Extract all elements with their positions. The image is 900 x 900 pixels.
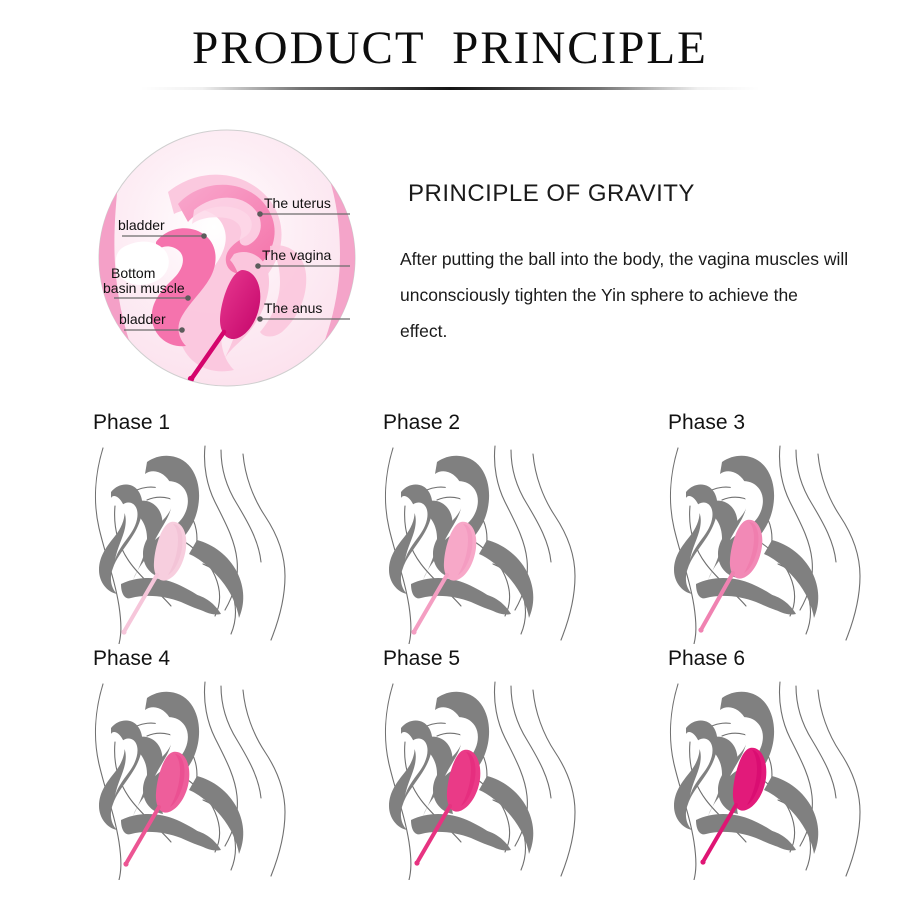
gravity-heading: PRINCIPLE OF GRAVITY xyxy=(408,180,870,208)
label-bottom-basin-muscle-line2: basin muscle xyxy=(103,280,185,296)
phase-cell-2: Phase 2 xyxy=(375,412,655,650)
label-bladder-lower: bladder xyxy=(119,311,166,327)
label-bladder-upper: bladder xyxy=(118,217,165,233)
phase-illustration-6 xyxy=(660,680,895,880)
gravity-text-block: PRINCIPLE OF GRAVITY After putting the b… xyxy=(400,180,870,350)
label-bottom-basin-muscle-line1: Bottom xyxy=(111,265,155,281)
phase-illustration-1 xyxy=(85,444,320,644)
phase-label-2: Phase 2 xyxy=(383,412,655,438)
phase-illustration-2 xyxy=(375,444,610,644)
phase-grid: Phase 1 Phase 2 Phase 3 xyxy=(0,412,900,900)
phase-illustration-4 xyxy=(85,680,320,880)
anatomy-circle-diagram: The uterus The vagina The anus bladder B… xyxy=(82,126,372,396)
phase-illustration-3 xyxy=(660,444,895,644)
title-block: PRODUCT PRINCIPLE xyxy=(0,24,900,90)
phase-illustration-5 xyxy=(375,680,610,880)
page-title: PRODUCT PRINCIPLE xyxy=(0,24,900,73)
phase-cell-4: Phase 4 xyxy=(85,648,365,886)
title-divider xyxy=(140,87,760,90)
phase-label-6: Phase 6 xyxy=(668,648,900,674)
phase-cell-6: Phase 6 xyxy=(660,648,900,886)
phase-cell-1: Phase 1 xyxy=(85,412,365,650)
label-the-vagina: The vagina xyxy=(262,247,331,263)
gravity-body-text: After putting the ball into the body, th… xyxy=(400,242,850,350)
phase-label-3: Phase 3 xyxy=(668,412,900,438)
label-the-uterus: The uterus xyxy=(264,195,331,211)
phase-cell-5: Phase 5 xyxy=(375,648,655,886)
phase-label-4: Phase 4 xyxy=(93,648,365,674)
phase-label-5: Phase 5 xyxy=(383,648,655,674)
label-the-anus: The anus xyxy=(264,300,322,316)
phase-cell-3: Phase 3 xyxy=(660,412,900,650)
phase-label-1: Phase 1 xyxy=(93,412,365,438)
anatomy-circle-svg: The uterus The vagina The anus bladder B… xyxy=(82,126,372,396)
